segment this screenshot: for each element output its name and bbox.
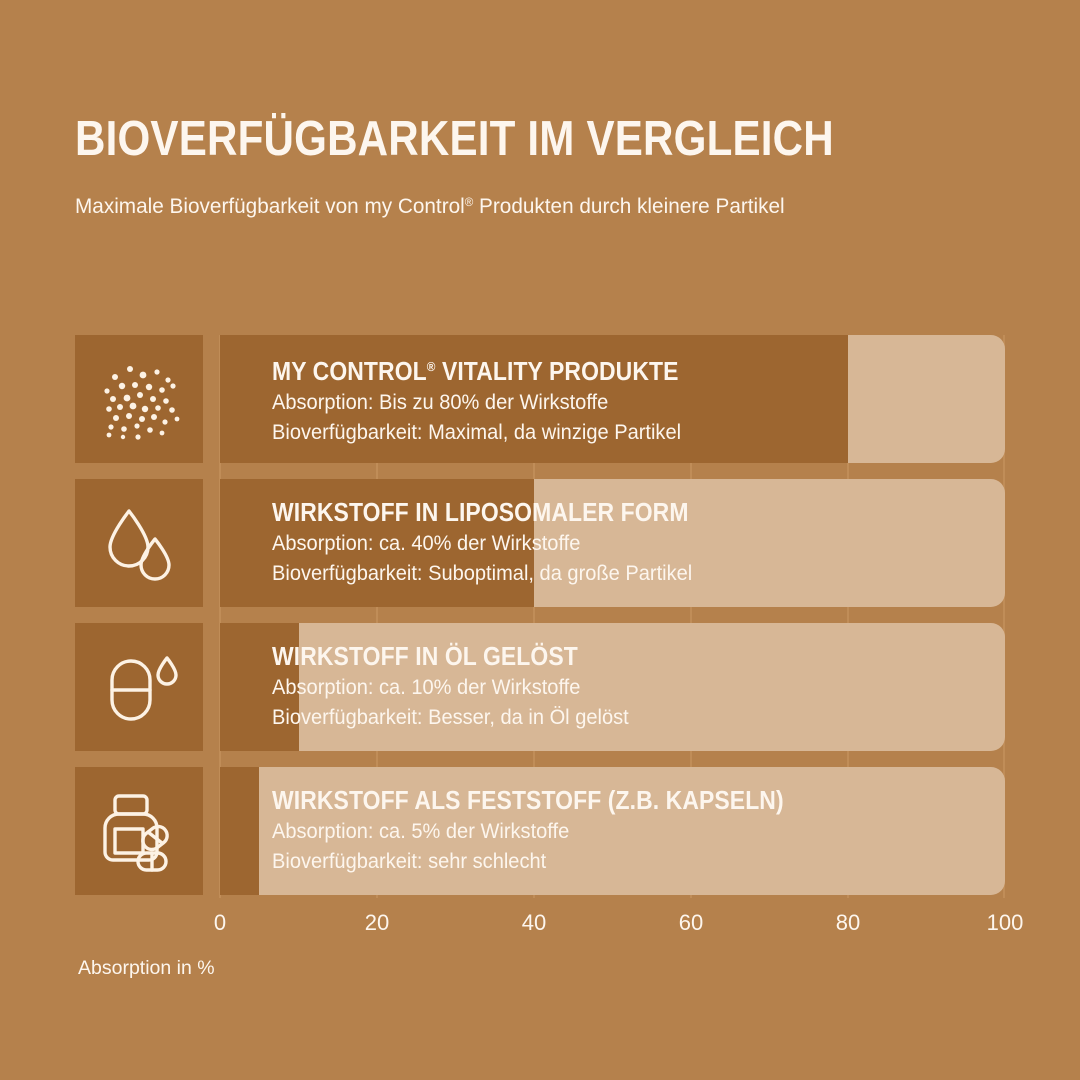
x-axis-caption: Absorption in %: [78, 955, 215, 981]
bar-text-vitality: MY CONTROL® VITALITY PRODUKTE Absorption…: [272, 335, 724, 463]
droplets-icon-tile: [75, 479, 203, 607]
chart-row-oil[interactable]: WIRKSTOFF IN ÖL GELÖST Absorption: ca. 1…: [0, 623, 1080, 751]
bar-absorption-solid: Absorption: ca. 5% der Wirkstoffe: [272, 817, 815, 847]
capsule-drop-icon: [93, 641, 185, 733]
chart-row-solid[interactable]: WIRKSTOFF ALS FESTSTOFF (Z.B. KAPSELN) A…: [0, 767, 1080, 895]
x-tick-40: 40: [522, 908, 546, 938]
x-axis: 0 20 40 60 80 100: [220, 908, 1005, 942]
bar-absorption-vitality: Absorption: Bis zu 80% der Wirkstoffe: [272, 388, 703, 418]
chart-row-vitality[interactable]: MY CONTROL® VITALITY PRODUKTE Absorption…: [0, 335, 1080, 463]
registered-mark: ®: [427, 359, 436, 374]
bar-label-vitality: MY CONTROL® VITALITY PRODUKTE: [272, 351, 679, 388]
bar-fill-solid: [220, 767, 259, 895]
bar-bioavailability-oil: Bioverfügbarkeit: Besser, da in Öl gelös…: [272, 703, 629, 733]
bar-absorption-oil: Absorption: ca. 10% der Wirkstoffe: [272, 673, 629, 703]
bar-wrap-solid: WIRKSTOFF ALS FESTSTOFF (Z.B. KAPSELN) A…: [220, 767, 1005, 895]
x-tick-100: 100: [987, 908, 1024, 938]
infographic-canvas: BIOVERFÜGBARKEIT IM VERGLEICH Maximale B…: [0, 0, 1080, 1080]
x-tick-20: 20: [365, 908, 389, 938]
pill-bottle-icon: [93, 785, 185, 877]
pill-bottle-icon-tile: [75, 767, 203, 895]
bar-wrap-vitality: MY CONTROL® VITALITY PRODUKTE Absorption…: [220, 335, 1005, 463]
x-tick-60: 60: [679, 908, 703, 938]
capsule-drop-icon-tile: [75, 623, 203, 751]
bar-label-vitality-before: MY CONTROL: [272, 358, 427, 386]
bar-text-solid: WIRKSTOFF ALS FESTSTOFF (Z.B. KAPSELN) A…: [272, 767, 841, 895]
bar-bioavailability-liposomal: Bioverfügbarkeit: Suboptimal, da große P…: [272, 559, 714, 589]
particles-icon-tile: [75, 335, 203, 463]
bar-label-vitality-after: VITALITY PRODUKTE: [435, 358, 678, 386]
bar-absorption-liposomal: Absorption: ca. 40% der Wirkstoffe: [272, 529, 714, 559]
x-tick-0: 0: [214, 908, 226, 938]
bar-wrap-oil: WIRKSTOFF IN ÖL GELÖST Absorption: ca. 1…: [220, 623, 1005, 751]
bar-bioavailability-vitality: Bioverfügbarkeit: Maximal, da winzige Pa…: [272, 418, 703, 448]
bar-bioavailability-solid: Bioverfügbarkeit: sehr schlecht: [272, 847, 815, 877]
bar-wrap-liposomal: WIRKSTOFF IN LIPOSOMALER FORM Absorption…: [220, 479, 1005, 607]
droplets-icon: [93, 497, 185, 589]
bar-text-oil: WIRKSTOFF IN ÖL GELÖST Absorption: ca. 1…: [272, 623, 646, 751]
particles-icon: [93, 353, 185, 445]
bar-label-solid: WIRKSTOFF ALS FESTSTOFF (Z.B. KAPSELN): [272, 786, 784, 817]
bioavailability-bar-chart: MY CONTROL® VITALITY PRODUKTE Absorption…: [0, 0, 1080, 1080]
bar-label-liposomal: WIRKSTOFF IN LIPOSOMALER FORM: [272, 498, 689, 529]
x-tick-80: 80: [836, 908, 860, 938]
bar-text-liposomal: WIRKSTOFF IN LIPOSOMALER FORM Absorption…: [272, 479, 735, 607]
chart-row-liposomal[interactable]: WIRKSTOFF IN LIPOSOMALER FORM Absorption…: [0, 479, 1080, 607]
bar-label-oil: WIRKSTOFF IN ÖL GELÖST: [272, 642, 608, 673]
